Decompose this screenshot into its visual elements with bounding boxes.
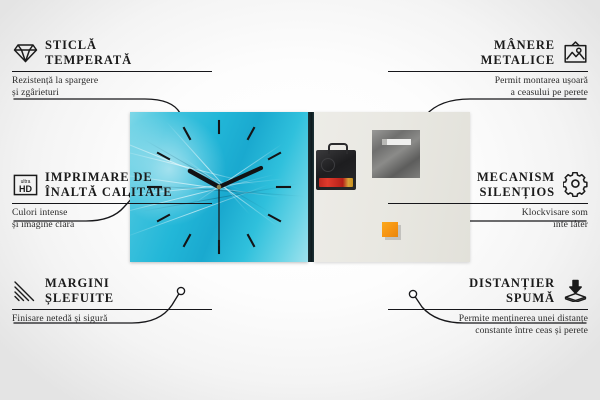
feature-header: MECANISM SILENȚIOS [388, 170, 588, 203]
feature-metal-hangers: MÂNERE METALICE Permit montarea ușoară a… [388, 38, 588, 100]
feature-header: DISTANȚIER SPUMĂ [388, 276, 588, 309]
hanger-slot [382, 139, 411, 145]
ultra-hd-icon: ultra HD [12, 172, 38, 198]
feature-title: MÂNERE METALICE [481, 38, 555, 68]
feature-tempered-glass: STICLĂ TEMPERATĂ Rezistență la spargere … [12, 38, 212, 100]
feature-polished-edges: MARGINI ȘLEFUITE Finisare netedă și sigu… [12, 276, 212, 325]
feature-title: IMPRIMARE DE ÎNALTĂ CALITATE [45, 170, 173, 200]
feature-foam-spacer: DISTANȚIER SPUMĂ Permite menținerea unei… [388, 276, 588, 338]
feature-header: STICLĂ TEMPERATĂ [12, 38, 212, 71]
picture-hanger-icon [562, 40, 588, 66]
clock-center-cap [217, 185, 222, 190]
mechanism-dial [321, 158, 335, 172]
feature-title: MECANISM SILENȚIOS [477, 170, 555, 200]
feature-header: ultra HD IMPRIMARE DE ÎNALTĂ CALITATE [12, 170, 212, 203]
feature-subtitle: Permite menținerea unei distanțe constan… [388, 310, 588, 338]
battery [319, 178, 353, 187]
feature-header: MÂNERE METALICE [388, 38, 588, 71]
feature-subtitle: Finisare netedă și sigură [12, 310, 212, 326]
feature-subtitle: Klockvisare som inte låter [388, 204, 588, 232]
clock-mechanism [316, 150, 356, 190]
feature-subtitle: Permit montarea ușoară a ceasului pe per… [388, 72, 588, 100]
gear-icon [562, 172, 588, 198]
svg-text:HD: HD [19, 184, 32, 194]
feature-header: MARGINI ȘLEFUITE [12, 276, 212, 309]
feature-title: DISTANȚIER SPUMĂ [469, 276, 555, 306]
polished-edge-icon [12, 278, 38, 304]
feature-high-quality-print: ultra HD IMPRIMARE DE ÎNALTĂ CALITATE Cu… [12, 170, 212, 232]
feature-title: STICLĂ TEMPERATĂ [45, 38, 132, 68]
minute-hand [219, 168, 261, 187]
diamond-icon [12, 40, 38, 66]
feature-title: MARGINI ȘLEFUITE [45, 276, 114, 306]
mechanism-hanger-loop [328, 143, 348, 154]
foam-spacer-icon [562, 278, 588, 304]
product-feature-infographic: STICLĂ TEMPERATĂ Rezistență la spargere … [0, 0, 600, 400]
feature-subtitle: Rezistență la spargere și zgârieturi [12, 72, 212, 100]
feature-subtitle: Culori intense și imagine clară [12, 204, 212, 232]
feature-silent-mechanism: MECANISM SILENȚIOS Klockvisare som inte … [388, 170, 588, 232]
